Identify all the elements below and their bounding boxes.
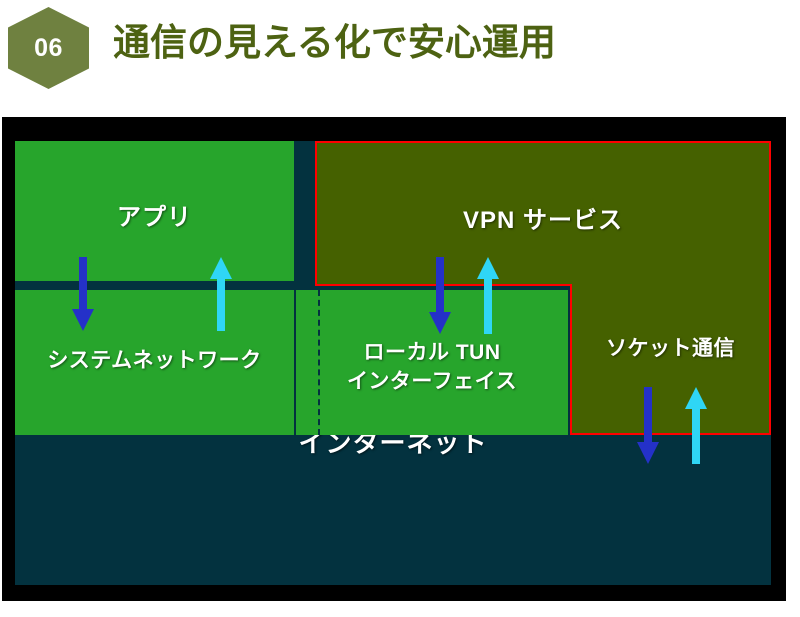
- system-network-label: システムネットワーク: [15, 344, 294, 374]
- app-label: アプリ: [15, 197, 294, 232]
- arrow-tun-to-vpn: [476, 257, 500, 335]
- arrow-socket-to-internet: [636, 387, 660, 465]
- slide-header: 06 通信の見える化で安心運用: [0, 0, 800, 110]
- architecture-diagram: インターネット アプリ VPN サービス ソケット通信 システムネットワーク ロ…: [2, 117, 786, 601]
- system-network-block: システムネットワーク: [15, 290, 294, 435]
- section-number-text: 06: [34, 36, 63, 61]
- system-tun-divider: [318, 290, 320, 435]
- slide-root: 06 通信の見える化で安心運用 インターネット アプリ VPN サービス ソケッ…: [0, 0, 800, 617]
- vpn-outline-seam: [572, 280, 769, 290]
- tun-interface-label-line2: インターフェイス: [347, 370, 517, 393]
- arrow-system-network-to-app: [209, 257, 233, 332]
- arrow-app-to-system-network: [71, 257, 95, 332]
- section-number-badge: 06: [8, 7, 89, 89]
- vpn-service-block: VPN サービス: [315, 141, 771, 286]
- app-block: アプリ: [15, 141, 294, 281]
- vpn-service-label: VPN サービス: [317, 200, 769, 235]
- socket-comm-block: ソケット通信: [570, 284, 771, 435]
- tun-interface-label-line1: ローカル TUN: [364, 341, 501, 364]
- socket-comm-label: ソケット通信: [572, 332, 769, 362]
- tun-interface-label: ローカル TUN インターフェイス: [296, 338, 568, 396]
- arrow-vpn-to-tun: [428, 257, 452, 335]
- page-title: 通信の見える化で安心運用: [113, 18, 556, 68]
- arrow-internet-to-socket: [684, 387, 708, 465]
